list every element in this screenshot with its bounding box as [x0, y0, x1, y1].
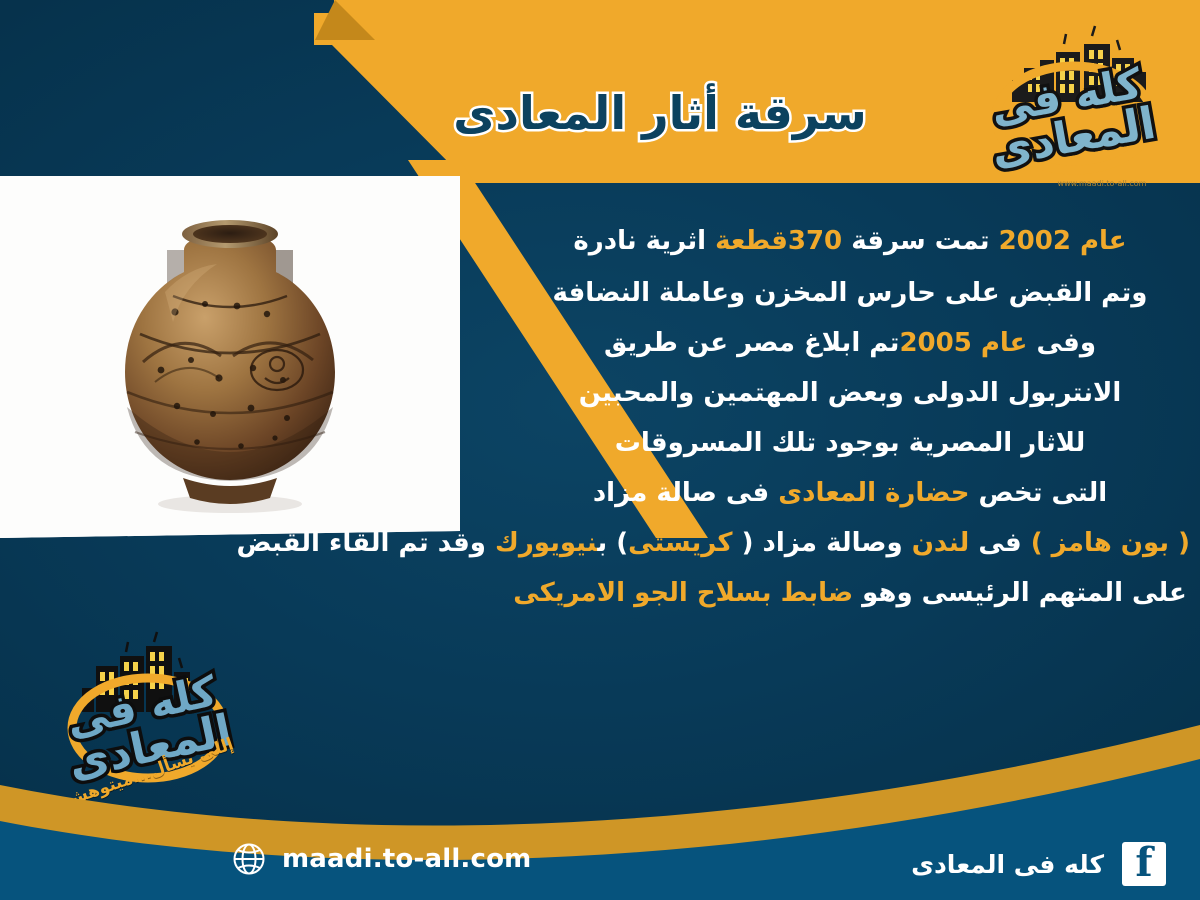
body-line-3-seg-1: وفى: [1027, 328, 1096, 358]
ancient-jar-illustration: [65, 192, 395, 522]
body-line-7-seg-1: ( بون هامز ): [1031, 528, 1190, 558]
globe-icon: [232, 842, 266, 876]
logo-watermark: www.maadi.to-all.com: [1058, 179, 1147, 188]
body-line-3: وفى عام 2005تم ابلاغ مصر عن طريق: [510, 330, 1190, 356]
body-line-1: عام 2002 تمت سرقة 370قطعة اثرية نادرة: [510, 228, 1190, 254]
body-line-7-seg-8: وقد تم القاء القبض: [237, 528, 495, 558]
body-line-6-seg-3: فى صالة مزاد: [593, 478, 778, 508]
facebook-icon[interactable]: [1122, 842, 1166, 886]
brand-logo-top-right: كله فى المعادى www.maadi.to-all.com: [952, 6, 1188, 192]
artifact-photo: [0, 176, 460, 538]
body-line-5: للاثار المصرية بوجود تلك المسروقات: [510, 430, 1190, 456]
body-line-2-seg-1: وتم القبض على حارس المخزن وعاملة النضافة: [553, 278, 1148, 308]
body-line-7-seg-7: نيويورك: [495, 528, 597, 558]
footer-facebook[interactable]: كله فى المعادى: [911, 842, 1166, 886]
footer-website[interactable]: maadi.to-all.com: [232, 842, 531, 876]
footer-website-url: maadi.to-all.com: [282, 844, 531, 874]
body-line-7: ( بون هامز ) فى لندن وصالة مزاد ( كريستى…: [510, 530, 1190, 556]
body-line-7-seg-6: ) ب: [597, 528, 628, 558]
body-line-7-seg-3: لندن: [912, 528, 970, 558]
body-line-8-seg-1: على المتهم الرئيسى وهو: [853, 578, 1187, 608]
footer-facebook-label: كله فى المعادى: [911, 850, 1104, 879]
body-line-3-seg-3: تم ابلاغ مصر عن طريق: [604, 328, 899, 358]
body-line-7-seg-2: فى: [969, 528, 1030, 558]
body-line-8: على المتهم الرئيسى وهو ضابط بسلاح الجو ا…: [510, 580, 1190, 606]
body-line-8-seg-2: ضابط بسلاح الجو الامريكى: [513, 578, 853, 608]
body-line-1-seg-4: اثرية نادرة: [573, 226, 715, 256]
body-line-3-seg-2: عام 2005: [899, 328, 1027, 358]
body-line-7-seg-4: وصالة مزاد (: [733, 528, 912, 558]
body-line-6-seg-2: حضارة المعادى: [778, 478, 969, 508]
body-line-1-seg-2: تمت سرقة: [842, 226, 998, 256]
article-body: عام 2002 تمت سرقة 370قطعة اثرية نادرة وت…: [510, 228, 1190, 630]
body-line-4-seg-1: الانتربول الدولى وبعض المهتمين والمحبين: [579, 378, 1122, 408]
body-line-6-seg-1: التى تخص: [969, 478, 1107, 508]
body-line-5-seg-1: للاثار المصرية بوجود تلك المسروقات: [615, 428, 1085, 458]
body-line-2: وتم القبض على حارس المخزن وعاملة النضافة: [510, 280, 1190, 306]
infographic-poster: سرقة أثار المعادى: [0, 0, 1200, 900]
body-line-7-seg-5: كريستى: [628, 528, 732, 558]
artifact-photo-panel: [0, 176, 460, 538]
body-line-4: الانتربول الدولى وبعض المهتمين والمحبين: [510, 380, 1190, 406]
body-line-1-seg-1: عام 2002: [999, 226, 1127, 256]
logo-wordmark: كله فى المعادى: [980, 57, 1159, 176]
body-line-6: التى تخص حضارة المعادى فى صالة مزاد: [510, 480, 1190, 506]
page-title: سرقة أثار المعادى: [330, 86, 990, 140]
body-line-1-seg-3: 370قطعة: [715, 226, 842, 256]
